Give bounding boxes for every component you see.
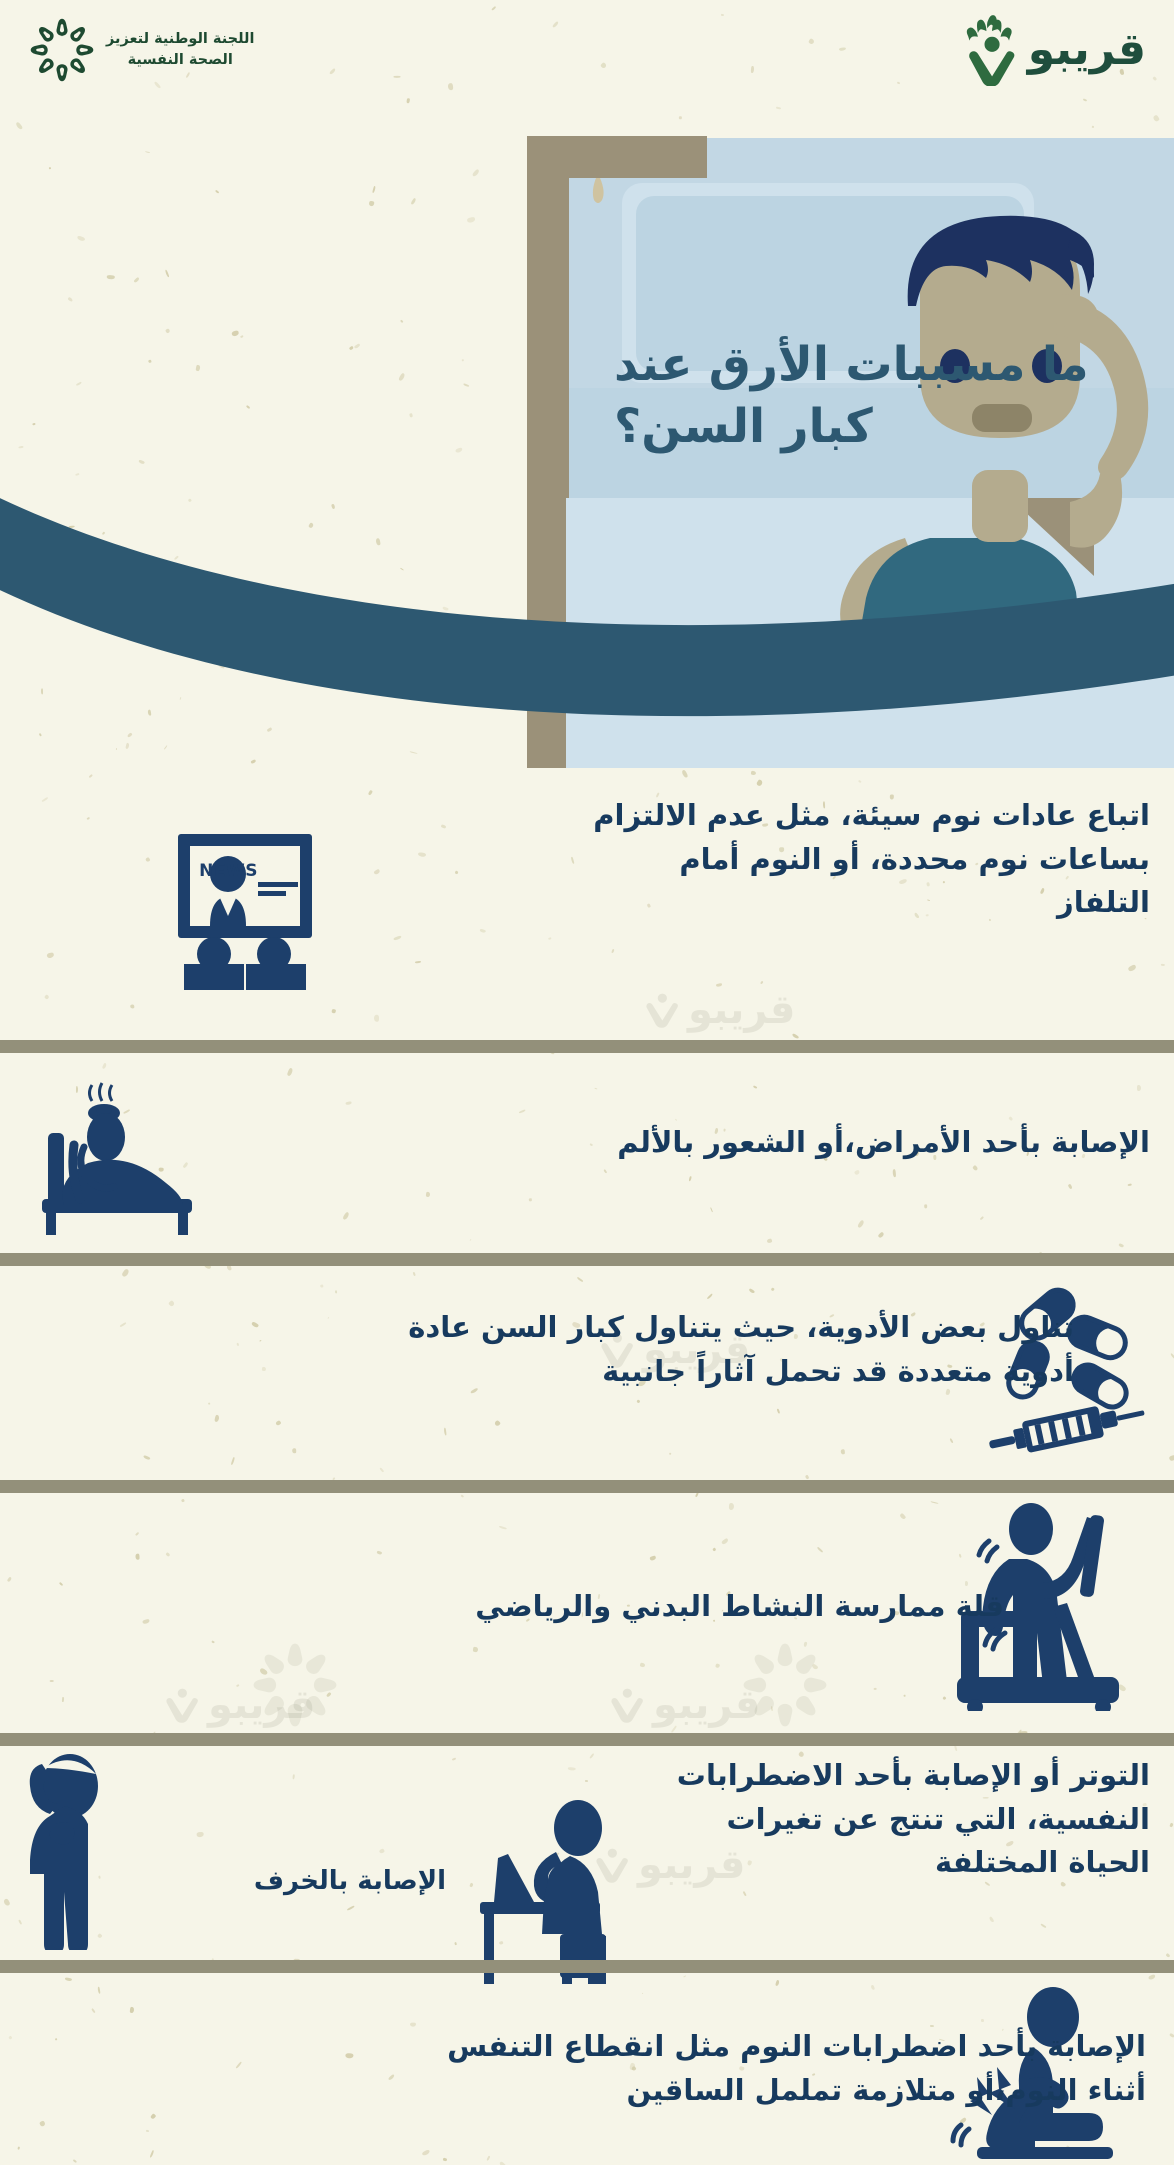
qaribo-logo: قريبو xyxy=(960,14,1146,86)
row-text-line: الحياة المختلفة xyxy=(550,1841,1150,1885)
row-stress-mental: الإصابة بالخرف xyxy=(0,1746,1174,1946)
row-secondary-text-line: الإصابة بالخرف xyxy=(126,1862,446,1901)
row-text: تناول بعض الأدوية، حيث يتناول كبار السن … xyxy=(214,1306,1074,1393)
tv-news-icon: NEWS xyxy=(170,830,320,990)
row-text-line: بساعات نوم محددة، أو النوم أمام xyxy=(330,838,1150,882)
row-divider xyxy=(0,1253,1174,1266)
row-text: قلة ممارسة النشاط البدني والرياضي xyxy=(224,1585,1004,1629)
row-secondary-text: الإصابة بالخرف xyxy=(126,1862,446,1901)
qaribo-person-icon xyxy=(960,14,1026,86)
row-text-line: أدوية متعددة قد تحمل آثاراً جانبية xyxy=(214,1350,1074,1394)
row-text: الإصابة بأحد اضطرابات النوم مثل انقطاع ا… xyxy=(256,2025,1146,2112)
row-medications: تناول بعض الأدوية، حيث يتناول كبار السن … xyxy=(0,1266,1174,1480)
svg-text:NEWS: NEWS xyxy=(199,861,258,881)
logo-text-line-2: الصحة النفسية xyxy=(128,52,233,68)
row-text: التوتر أو الإصابة بأحد الاضطرابات النفسي… xyxy=(550,1754,1150,1885)
row-text-line: النفسية، التي تنتج عن تغيرات xyxy=(550,1798,1150,1842)
row-text-line: الإصابة بأحد الأمراض،أو الشعور بالألم xyxy=(350,1121,1150,1165)
row-divider xyxy=(0,1040,1174,1053)
confused-elderly-person-icon xyxy=(10,1750,150,1950)
row-divider xyxy=(0,1960,1174,1973)
row-sleep-disorders: الإصابة بأحد اضطرابات النوم مثل انقطاع ا… xyxy=(0,1973,1174,2165)
row-text: اتباع عادات نوم سيئة، مثل عدم الالتزام ب… xyxy=(330,794,1150,925)
row-text-line: قلة ممارسة النشاط البدني والرياضي xyxy=(224,1585,1004,1629)
title-line-1: ما مسببات الأرق عند xyxy=(614,334,1114,396)
row-physical-activity: قلة ممارسة النشاط البدني والرياضي xyxy=(0,1493,1174,1733)
row-divider xyxy=(0,1480,1174,1493)
row-text-line: التوتر أو الإصابة بأحد الاضطرابات xyxy=(550,1754,1150,1798)
row-text-line: الإصابة بأحد اضطرابات النوم مثل انقطاع ا… xyxy=(256,2025,1146,2069)
row-illness-pain: الإصابة بأحد الأمراض،أو الشعور بالألم xyxy=(0,1053,1174,1253)
row-text-line: تناول بعض الأدوية، حيث يتناول كبار السن … xyxy=(214,1306,1074,1350)
row-text-line: اتباع عادات نوم سيئة، مثل عدم الالتزام xyxy=(330,794,1150,838)
star-emblem-icon xyxy=(28,16,96,84)
sick-person-in-bed-icon xyxy=(28,1075,198,1235)
qaribo-logo-text: قريبو xyxy=(1028,28,1146,72)
logo-text-line-1: اللجنة الوطنية لتعزيز xyxy=(106,31,254,47)
infographic-poster: اللجنة الوطنية لتعزيزالصحة النفسية قريبو xyxy=(0,0,1174,2165)
row-divider xyxy=(0,1733,1174,1746)
national-committee-logo-text: اللجنة الوطنية لتعزيزالصحة النفسية xyxy=(106,29,254,71)
title-line-2: كبار السن؟ xyxy=(614,396,1114,458)
national-committee-logo: اللجنة الوطنية لتعزيزالصحة النفسية xyxy=(28,16,254,84)
row-text: الإصابة بأحد الأمراض،أو الشعور بالألم xyxy=(350,1121,1150,1165)
page-title: ما مسببات الأرق عند كبار السن؟ xyxy=(614,334,1114,458)
row-sleep-habits: NEWS اتباع عادات نوم سيئة، م xyxy=(0,768,1174,1040)
row-text-line: التلفاز xyxy=(330,881,1150,925)
row-text-line: أثناء النوم،أو متلازمة تململ الساقين xyxy=(256,2069,1146,2113)
header: اللجنة الوطنية لتعزيزالصحة النفسية قريبو xyxy=(0,0,1174,108)
